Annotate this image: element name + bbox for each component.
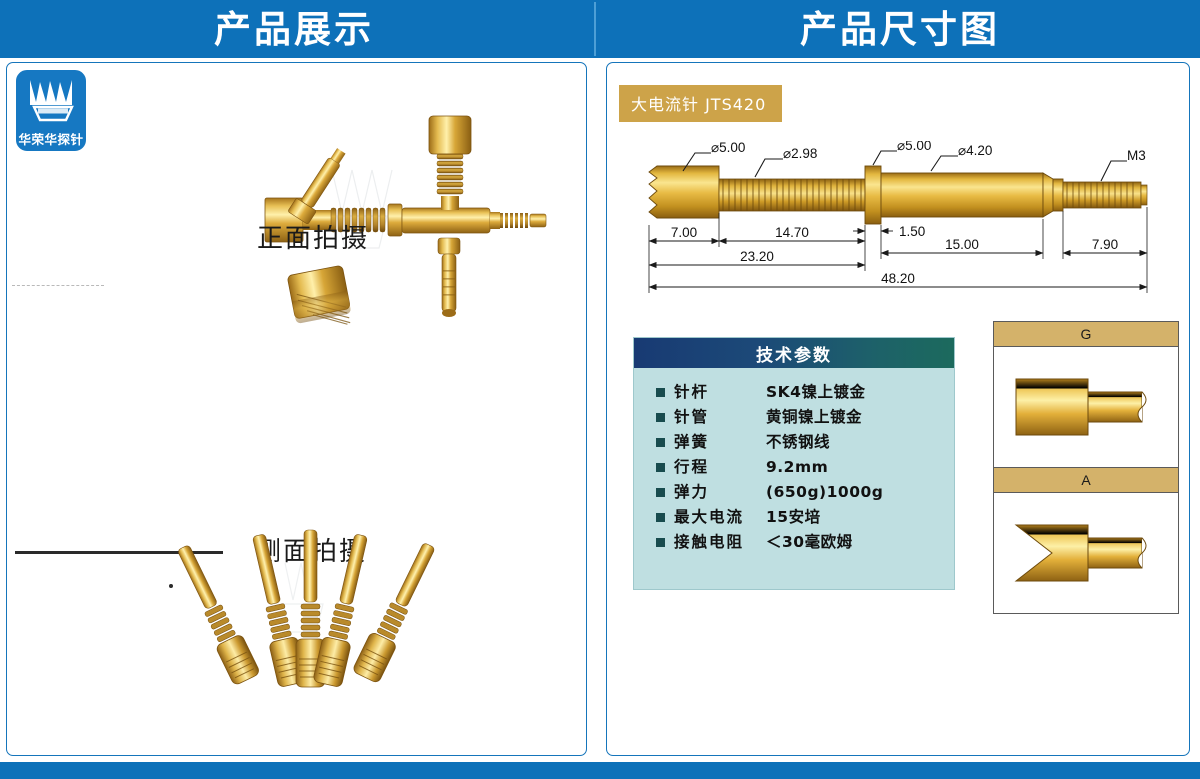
spec-row: 弹簧 不锈钢线 <box>634 428 954 453</box>
technical-drawing: ⌀5.00 ⌀2.98 ⌀5.00 ⌀4.20 M3 <box>631 141 1176 301</box>
dim-label-spring: ⌀2.98 <box>783 146 817 161</box>
spec-value: ＜30毫欧姆 <box>766 530 853 552</box>
crown-flame-mark-icon <box>16 72 88 127</box>
product-photo-side <box>125 518 495 748</box>
chisel-concave-tip-icon <box>994 493 1178 613</box>
bullet-square-icon <box>656 488 665 497</box>
bullet-square-icon <box>656 413 665 422</box>
footer-bar <box>0 762 1200 779</box>
spec-value: 9.2mm <box>766 458 828 476</box>
dim-value-barrel-length: 15.00 <box>945 237 979 252</box>
spec-key: 弹簧 <box>674 430 766 452</box>
spec-key: 最大电流 <box>674 505 766 527</box>
spec-key: 接触电阻 <box>674 530 766 552</box>
bullet-square-icon <box>656 513 665 522</box>
product-photo-panel: 正面拍摄 侧面拍摄 <box>6 62 587 756</box>
header-divider <box>594 2 596 56</box>
dim-label-flange: ⌀5.00 <box>897 141 931 153</box>
tip-art-g <box>994 347 1178 467</box>
spec-value: 黄铜镍上镀金 <box>766 405 862 427</box>
bullet-square-icon <box>656 388 665 397</box>
spec-row: 针杆 SK4镍上镀金 <box>634 378 954 403</box>
drawing-spring <box>719 179 865 211</box>
header-left: 产品展示 <box>0 0 588 58</box>
dashed-line-artifact <box>12 285 104 286</box>
spec-row: 行程 9.2mm <box>634 453 954 478</box>
dim-14-70: 14.70 <box>719 225 865 241</box>
dim-value-spring-length: 14.70 <box>775 225 809 240</box>
dim-label-head: ⌀5.00 <box>711 141 745 155</box>
spec-row: 弹力 (650g)1000g <box>634 478 954 503</box>
jts420-dimension-svg: ⌀5.00 ⌀2.98 ⌀5.00 ⌀4.20 M3 <box>631 141 1176 301</box>
spec-row: 针管 黄铜镍上镀金 <box>634 403 954 428</box>
spec-value: (650g)1000g <box>766 483 883 501</box>
page-root: 产品展示 产品尺寸图 <box>0 0 1200 779</box>
dim-23-20: 23.20 <box>649 249 865 265</box>
caption-front-view: 正面拍摄 <box>257 218 369 255</box>
spec-table-body: 针杆 SK4镍上镀金 针管 黄铜镍上镀金 弹簧 不锈钢线 行程 9.2mm <box>634 368 954 589</box>
bullet-square-icon <box>656 538 665 547</box>
tip-detail-panels: G <box>993 321 1179 614</box>
spec-key: 针杆 <box>674 380 766 402</box>
dim-value-plunger-total: 23.20 <box>740 249 774 264</box>
dim-15: 15.00 <box>881 237 1043 253</box>
spec-key: 针管 <box>674 405 766 427</box>
drawing-flange <box>865 166 881 224</box>
tip-header-g: G <box>994 322 1178 347</box>
tip-label-a: A <box>1081 472 1090 488</box>
product-model-label: 大电流针 JTS420 <box>619 85 782 122</box>
drawing-thread <box>1063 182 1147 208</box>
flat-tip-icon <box>994 347 1178 467</box>
dim-7: 7.00 <box>649 225 719 241</box>
spec-value: 不锈钢线 <box>766 430 830 452</box>
tip-label-g: G <box>1081 326 1092 342</box>
spec-table: 技术参数 针杆 SK4镍上镀金 针管 黄铜镍上镀金 弹簧 不锈钢线 <box>633 337 955 590</box>
probe-fan-illustration <box>125 518 495 748</box>
dim-label-thread: M3 <box>1127 148 1146 163</box>
spec-key: 行程 <box>674 455 766 477</box>
dimension-drawing-panel: 大电流针 JTS420 <box>606 62 1190 756</box>
probe-knurled-head <box>287 265 353 334</box>
dim-value-flange-width: 1.50 <box>899 224 925 239</box>
tip-art-a <box>994 493 1178 613</box>
dim-48-20: 48.20 <box>649 271 1147 287</box>
spec-key: 弹力 <box>674 480 766 502</box>
page-title-right: 产品尺寸图 <box>800 11 1000 48</box>
spec-row: 接触电阻 ＜30毫欧姆 <box>634 528 954 553</box>
dim-label-barrel: ⌀4.20 <box>958 143 992 158</box>
dim-7-90: 7.90 <box>1063 237 1147 253</box>
drawing-barrel <box>881 173 1043 217</box>
spec-row: 最大电流 15安培 <box>634 503 954 528</box>
spec-table-title: 技术参数 <box>756 341 832 366</box>
dim-1-50: 1.50 <box>853 224 925 239</box>
spec-table-header: 技术参数 <box>634 338 954 368</box>
brand-logo: 华荣华探针 <box>14 68 88 153</box>
spec-value: 15安培 <box>766 505 821 527</box>
dim-value-head-length: 7.00 <box>671 225 697 240</box>
dim-value-overall-length: 48.20 <box>881 271 915 286</box>
logo-brand-text: 华荣华探针 <box>16 129 86 148</box>
tip-header-a: A <box>994 467 1178 493</box>
page-title-left: 产品展示 <box>214 11 374 48</box>
header-right: 产品尺寸图 <box>600 0 1200 58</box>
probe-fan-group <box>170 530 442 688</box>
drawing-head <box>649 166 719 218</box>
spec-value: SK4镍上镀金 <box>766 380 865 402</box>
dim-value-thread-length: 7.90 <box>1092 237 1118 252</box>
bullet-square-icon <box>656 438 665 447</box>
bullet-square-icon <box>656 463 665 472</box>
